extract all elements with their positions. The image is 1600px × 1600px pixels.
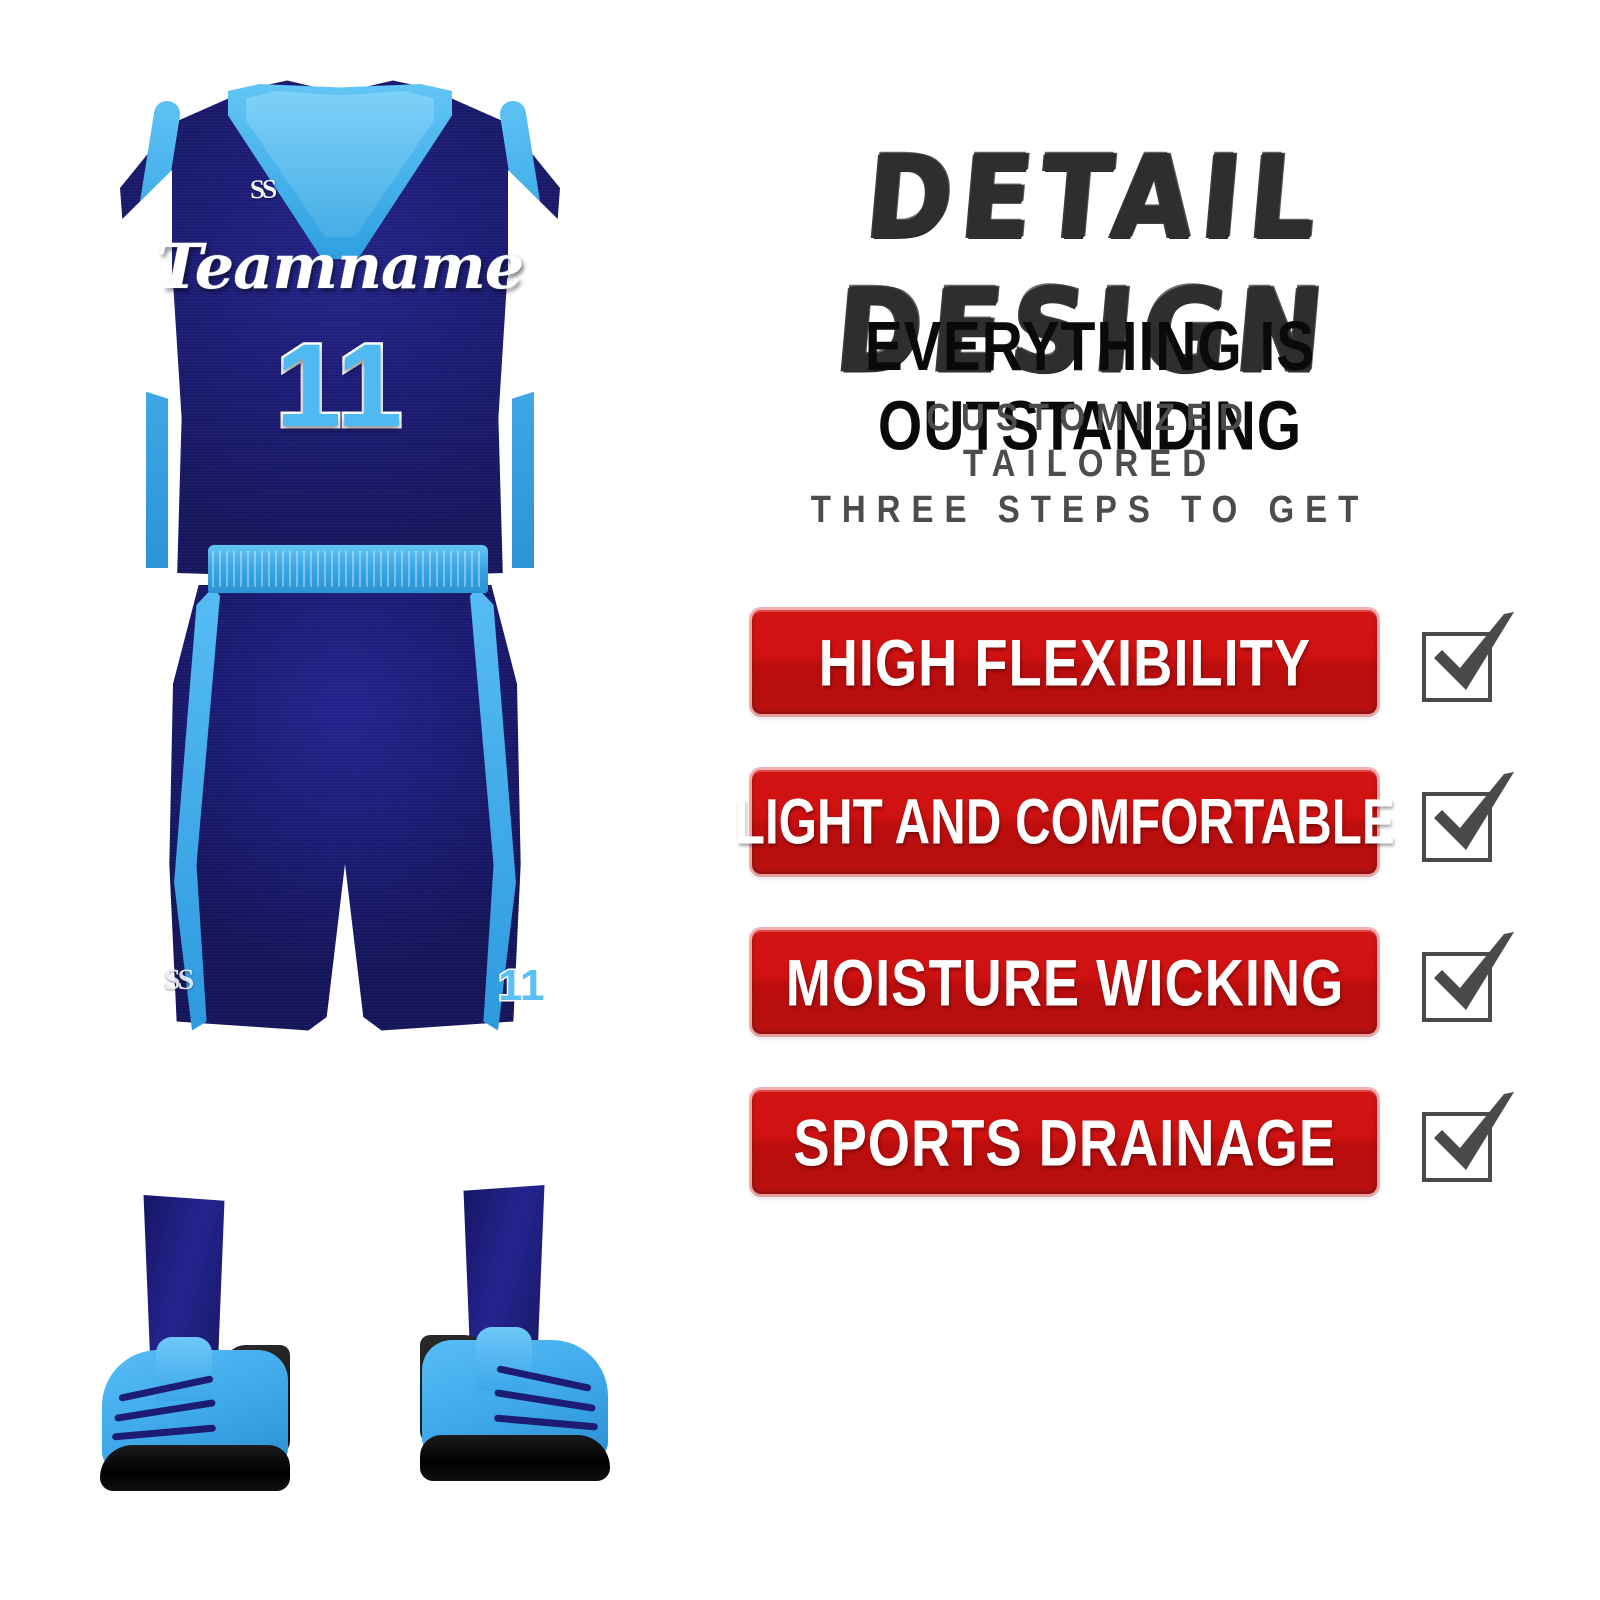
feature-banner-high-flexibility[interactable]: HIGH FLEXIBILITY: [752, 610, 1377, 714]
shoe-sole-right: [420, 1435, 610, 1481]
product-image-column: SS Teamname 11 SS 11: [0, 0, 660, 1600]
shoe-tongue-right: [476, 1327, 532, 1391]
feature-list: HIGH FLEXIBILITY LIGHT AND COMFORTABLE: [620, 600, 1560, 1240]
basketball-jersey: SS Teamname 11: [120, 78, 560, 578]
check-mark-icon: [1416, 1086, 1521, 1191]
shorts-player-number: 11: [498, 961, 544, 1011]
footwear-right: [420, 1185, 610, 1505]
feature-label: LIGHT AND COMFORTABLE: [735, 785, 1395, 858]
product-detail-page: SS Teamname 11 SS 11: [0, 0, 1600, 1600]
subheading-customized: CUSTOMIZED: [620, 395, 1560, 439]
check-mark-icon: [1416, 766, 1521, 871]
footwear-left: [100, 1195, 290, 1515]
marketing-copy-column: DETAIL DESIGN EVERYTHING IS OUTSTANDING …: [620, 0, 1600, 1600]
check-mark-icon: [1416, 606, 1521, 711]
feature-checkbox-moisture-wicking[interactable]: [1410, 926, 1522, 1038]
shorts-mesh-texture: [162, 585, 528, 1035]
feature-banner-moisture-wicking[interactable]: MOISTURE WICKING: [752, 930, 1377, 1034]
jersey-brand-logo: SS: [249, 174, 274, 206]
feature-banner-light-and-comfortable[interactable]: LIGHT AND COMFORTABLE: [752, 770, 1377, 874]
subheading-tailored: TAILORED: [620, 441, 1560, 485]
feature-banner-sports-drainage[interactable]: SPORTS DRAINAGE: [752, 1090, 1377, 1194]
feature-row: MOISTURE WICKING: [620, 920, 1560, 1080]
feature-checkbox-high-flexibility[interactable]: [1410, 606, 1522, 718]
check-mark-icon: [1416, 926, 1521, 1031]
shorts-body: [162, 585, 528, 1035]
jersey-team-name: Teamname: [120, 230, 560, 303]
subheading-three-steps: THREE STEPS TO GET: [620, 487, 1560, 531]
feature-checkbox-light-and-comfortable[interactable]: [1410, 766, 1522, 878]
feature-label: SPORTS DRAINAGE: [793, 1104, 1336, 1181]
feature-row: HIGH FLEXIBILITY: [620, 600, 1560, 760]
feature-label: MOISTURE WICKING: [785, 944, 1344, 1021]
feature-row: SPORTS DRAINAGE: [620, 1080, 1560, 1240]
feature-checkbox-sports-drainage[interactable]: [1410, 1086, 1522, 1198]
shorts-brand-logo: SS: [164, 963, 191, 997]
feature-row: LIGHT AND COMFORTABLE: [620, 760, 1560, 920]
feature-label: HIGH FLEXIBILITY: [818, 624, 1310, 701]
shorts-waistband: [208, 545, 488, 593]
basketball-shorts: SS 11: [150, 545, 540, 1045]
shoe-sole-left: [100, 1445, 290, 1491]
jersey-player-number: 11: [120, 318, 560, 454]
